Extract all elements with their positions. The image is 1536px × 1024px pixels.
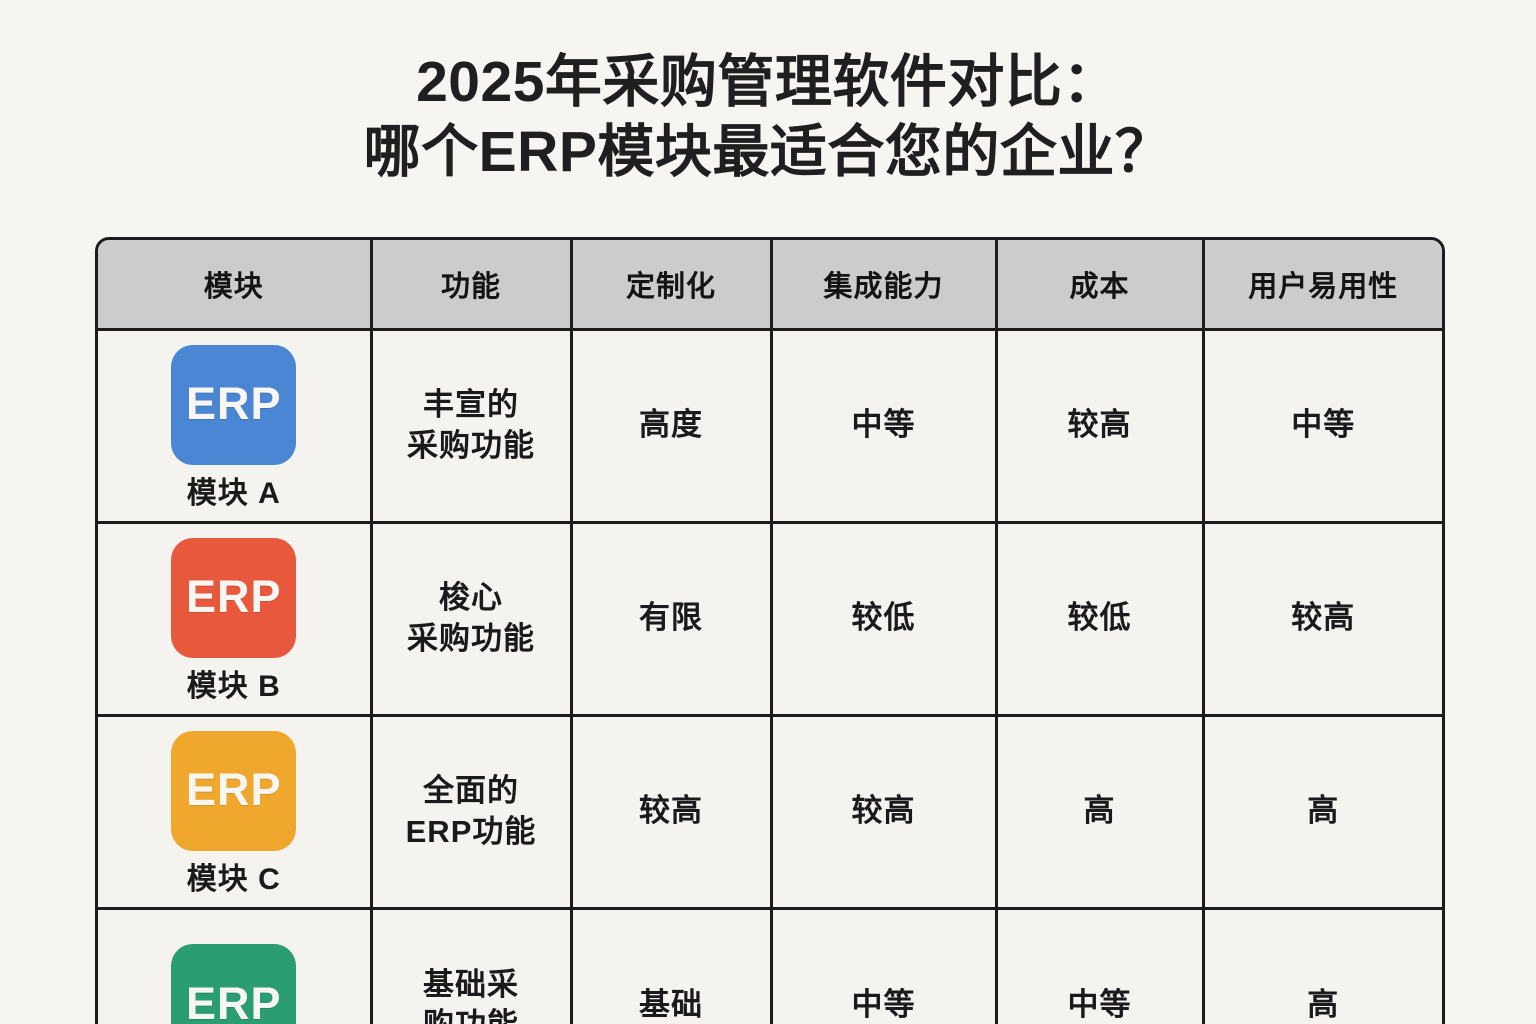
- customization-cell: 有限: [571, 522, 771, 715]
- module-cell: ERP 模块 A: [98, 329, 371, 522]
- feature-cell: 丰宣的 采购功能: [371, 329, 571, 522]
- header-row: 模块 功能 定制化 集成能力 成本 用户易用性: [98, 240, 1442, 329]
- erp-badge-icon: ERP: [171, 731, 296, 851]
- feature-line-2: 购功能: [373, 1005, 570, 1024]
- feature-line-2: ERP功能: [373, 812, 570, 852]
- module-cell: ERP 模块 B: [98, 522, 371, 715]
- table-row: ERP 模块 C 全面的 ERP功能 较高 较高 高 高: [98, 715, 1442, 908]
- module-label: 模块 A: [187, 474, 281, 513]
- comparison-table-container: 模块 功能 定制化 集成能力 成本 用户易用性 ERP 模块 A 丰宣的 采购功…: [95, 237, 1445, 1024]
- title-line-1: 2025年采购管理软件对比：: [0, 48, 1536, 118]
- feature-cell: 梭心 采购功能: [371, 522, 571, 715]
- module-label: 模块 C: [187, 860, 281, 899]
- cost-cell: 较低: [996, 522, 1203, 715]
- usability-cell: 高: [1203, 715, 1442, 908]
- erp-badge-icon: ERP: [171, 345, 296, 465]
- customization-cell: 高度: [571, 329, 771, 522]
- column-header-module: 模块: [98, 240, 371, 329]
- table-body: ERP 模块 A 丰宣的 采购功能 高度 中等 较高 中等 ERP 模块 B: [98, 329, 1442, 1024]
- erp-badge-icon: ERP: [171, 538, 296, 658]
- column-header-cost: 成本: [996, 240, 1203, 329]
- integration-cell: 较低: [771, 522, 996, 715]
- table-row: ERP 基础采 购功能 基础 中等 中等 高: [98, 908, 1442, 1024]
- feature-line-1: 梭心: [373, 578, 570, 618]
- feature-cell: 基础采 购功能: [371, 908, 571, 1024]
- integration-cell: 中等: [771, 908, 996, 1024]
- feature-cell: 全面的 ERP功能: [371, 715, 571, 908]
- module-label: 模块 B: [187, 667, 281, 706]
- customization-cell: 较高: [571, 715, 771, 908]
- table-row: ERP 模块 B 梭心 采购功能 有限 较低 较低 较高: [98, 522, 1442, 715]
- erp-badge-icon: ERP: [171, 944, 296, 1024]
- module-cell: ERP: [98, 908, 371, 1024]
- module-cell: ERP 模块 C: [98, 715, 371, 908]
- column-header-function: 功能: [371, 240, 571, 329]
- cost-cell: 中等: [996, 908, 1203, 1024]
- customization-cell: 基础: [571, 908, 771, 1024]
- title-line-2: 哪个ERP模块最适合您的企业？: [0, 118, 1536, 188]
- cost-cell: 较高: [996, 329, 1203, 522]
- integration-cell: 较高: [771, 715, 996, 908]
- column-header-usability: 用户易用性: [1203, 240, 1442, 329]
- table-row: ERP 模块 A 丰宣的 采购功能 高度 中等 较高 中等: [98, 329, 1442, 522]
- page-title: 2025年采购管理软件对比： 哪个ERP模块最适合您的企业？: [0, 48, 1536, 187]
- column-header-customization: 定制化: [571, 240, 771, 329]
- feature-line-1: 全面的: [373, 771, 570, 811]
- table-header: 模块 功能 定制化 集成能力 成本 用户易用性: [98, 240, 1442, 329]
- integration-cell: 中等: [771, 329, 996, 522]
- feature-line-1: 基础采: [373, 965, 570, 1005]
- usability-cell: 高: [1203, 908, 1442, 1024]
- feature-line-2: 采购功能: [373, 619, 570, 659]
- usability-cell: 中等: [1203, 329, 1442, 522]
- feature-line-2: 采购功能: [373, 426, 570, 466]
- feature-line-1: 丰宣的: [373, 385, 570, 425]
- cost-cell: 高: [996, 715, 1203, 908]
- comparison-table: 模块 功能 定制化 集成能力 成本 用户易用性 ERP 模块 A 丰宣的 采购功…: [98, 240, 1442, 1024]
- column-header-integration: 集成能力: [771, 240, 996, 329]
- usability-cell: 较高: [1203, 522, 1442, 715]
